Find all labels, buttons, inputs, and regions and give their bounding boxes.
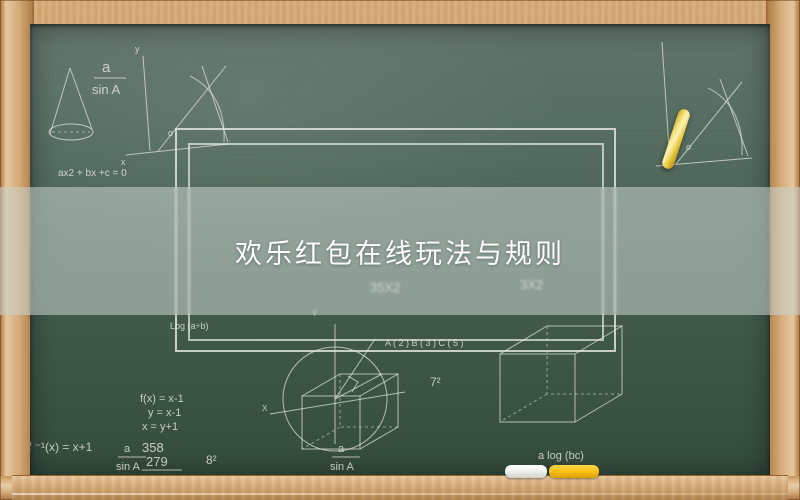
- chalk-tray-highlight: [12, 493, 788, 495]
- page-title: 欢乐红包在线玩法与规则: [235, 232, 565, 271]
- title-overlay-band: 欢乐红包在线玩法与规则: [0, 187, 800, 315]
- chalk-tray: [12, 475, 788, 500]
- white-chalk-piece: [505, 465, 547, 478]
- chalkboard-banner: a sin A y x o ax2 + bx +c = 0 o 35X2 3X2: [0, 0, 800, 500]
- yellow-chalk-piece: [549, 465, 599, 478]
